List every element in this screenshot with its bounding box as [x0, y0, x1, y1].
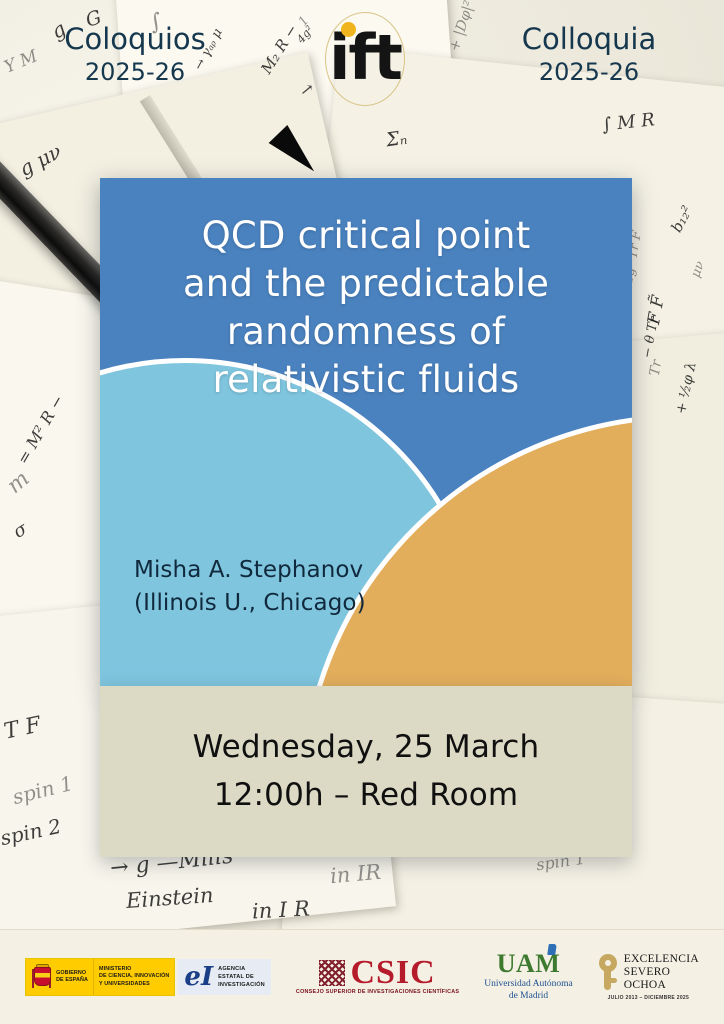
uam-sub-line-0: Universidad Autónoma [484, 979, 572, 991]
title-line-1: and the predictable [100, 260, 632, 308]
speaker-line-0: Misha A. Stephanov [134, 554, 366, 587]
gobierno-text: GOBIERNODE ESPAÑA [56, 970, 88, 984]
uam-wordmark: UAM [497, 951, 561, 977]
schedule-line-1: 12:00h – Red Room [214, 772, 519, 819]
aei-line-0: AGENCIA [218, 965, 265, 973]
colloquia-years: 2025-26 [464, 57, 714, 88]
coloquios-label: Coloquios [10, 22, 260, 57]
severo-ochoa-line-2: OCHOA [624, 979, 699, 992]
csic-wordmark: CSIC [350, 959, 435, 988]
csic-logo: CSIC CONSEJO SUPERIOR DE INVESTIGACIONES… [296, 959, 459, 996]
gobierno-cell: GOBIERNODE ESPAÑA [26, 959, 93, 995]
aei-monogram-icon: eI [184, 964, 213, 990]
title-line-2: randomness of [100, 308, 632, 356]
ministerio-line-2: Y UNIVERSIDADES [99, 981, 169, 988]
uam-subtitle: Universidad Autónomade Madrid [484, 979, 572, 1003]
ministerio-cell: MINISTERIODE CIENCIA, INNOVACIÓNY UNIVER… [93, 959, 174, 995]
ministerio-text: MINISTERIODE CIENCIA, INNOVACIÓNY UNIVER… [99, 966, 169, 987]
title-panel: QCD critical pointand the predictableran… [100, 178, 632, 686]
ift-logo: ift [322, 8, 408, 108]
aei-line-2: INVESTIGACIÓN [218, 981, 265, 989]
severo-ochoa-badge: EXCELENCIASEVEROOCHOA JULIO 2013 – DICIE… [598, 953, 699, 1002]
poster: Y MgG∫→ γₐᵨ μM₂ R −14g²Σₙ+ |Dφ|²∫ M Rb₁₂… [0, 0, 724, 1024]
uam-sub-line-1: de Madrid [484, 991, 572, 1003]
severo-ochoa-line-1: SEVERO [624, 966, 699, 979]
speaker-line-1: (Illinois U., Chicago) [134, 587, 366, 620]
sponsor-footer: GOBIERNODE ESPAÑA MINISTERIODE CIENCIA, … [0, 929, 724, 1024]
csic-subtitle: CONSEJO SUPERIOR DE INVESTIGACIONES CIEN… [296, 989, 459, 995]
spain-coat-of-arms-icon [31, 964, 52, 990]
title-line-0: QCD critical point [100, 212, 632, 260]
gobierno-line-0: GOBIERNO [56, 970, 88, 977]
schedule-line-0: Wednesday, 25 March [193, 724, 540, 771]
agencia-estatal-investigacion-logo: eI AGENCIAESTATAL DEINVESTIGACIÓN [178, 959, 270, 995]
header-right-title: Colloquia 2025-26 [464, 22, 714, 88]
severo-ochoa-dates: JULIO 2013 – DICIEMBRE 2025 [608, 995, 689, 1001]
gobierno-de-espana-logo: GOBIERNODE ESPAÑA MINISTERIODE CIENCIA, … [25, 958, 175, 996]
gobierno-line-1: DE ESPAÑA [56, 977, 88, 984]
logo-dot-icon [341, 22, 356, 37]
aei-text: AGENCIAESTATAL DEINVESTIGACIÓN [218, 965, 265, 989]
talk-schedule: Wednesday, 25 March12:00h – Red Room [100, 686, 632, 857]
poster-header: Coloquios 2025-26 ift Colloquia 2025-26 [0, 0, 724, 118]
uam-logo: UAM Universidad Autónomade Madrid [484, 951, 572, 1003]
csic-mark-icon [319, 960, 345, 986]
gobierno-aei-logo-group: GOBIERNODE ESPAÑA MINISTERIODE CIENCIA, … [25, 958, 271, 996]
severo-ochoa-line-0: EXCELENCIA [624, 953, 699, 966]
talk-speaker: Misha A. Stephanov(Illinois U., Chicago) [134, 554, 366, 621]
talk-title: QCD critical pointand the predictableran… [100, 212, 632, 404]
coloquios-years: 2025-26 [10, 57, 260, 88]
severo-ochoa-text: EXCELENCIASEVEROOCHOA [624, 953, 699, 993]
severo-ochoa-key-icon [598, 954, 618, 990]
colloquia-label: Colloquia [464, 22, 714, 57]
ministerio-line-1: DE CIENCIA, INNOVACIÓN [99, 973, 169, 980]
aei-line-1: ESTATAL DE [218, 973, 265, 981]
ift-wordmark: ift [322, 12, 408, 104]
title-line-3: relativistic fluids [100, 356, 632, 404]
header-left-title: Coloquios 2025-26 [10, 22, 260, 88]
